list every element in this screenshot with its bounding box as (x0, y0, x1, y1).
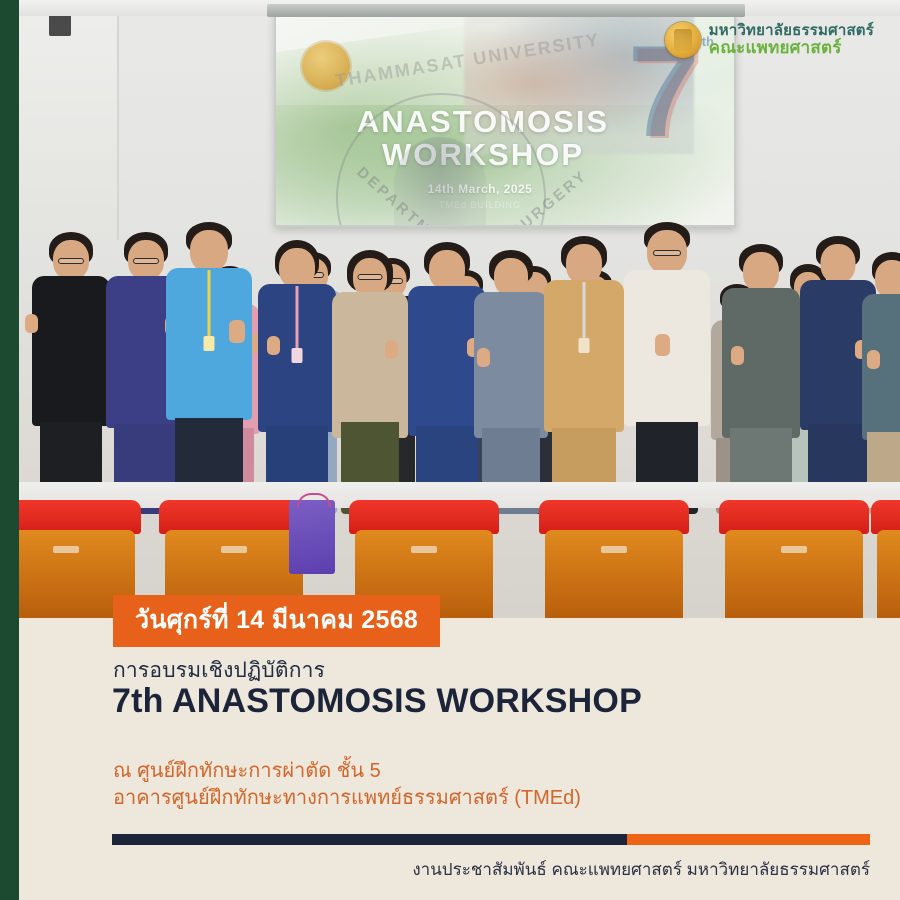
participant (329, 224, 411, 514)
divider-bar (112, 834, 870, 845)
venue-line-2: อาคารศูนย์ฝึกทักษะทางการแพทย์ธรรมศาสตร์ … (113, 785, 581, 812)
seat-back (877, 530, 900, 618)
seat-cushion (539, 500, 689, 534)
lanyard (583, 282, 586, 344)
seat-back (545, 530, 683, 618)
thumbs-up-hand (385, 340, 398, 359)
participant (621, 208, 713, 514)
seat-number-plate (53, 546, 79, 553)
head (743, 252, 779, 292)
thumbs-up-hand (477, 348, 490, 367)
seat-number-plate (781, 546, 807, 553)
participant (719, 222, 803, 514)
event-venue: ณ ศูนย์ฝึกทักษะการผ่าตัด ชั้น 5 อาคารศูน… (113, 758, 581, 812)
seat-number-plate (411, 546, 437, 553)
participant (541, 216, 627, 514)
seat-cushion (349, 500, 499, 534)
participant (29, 218, 113, 514)
glasses-icon (653, 250, 681, 256)
seat-cushion (19, 500, 141, 534)
head (875, 260, 900, 298)
lanyard (208, 270, 211, 342)
lanyard (296, 286, 299, 354)
seat-cushion (871, 500, 900, 534)
thumbs-up-hand (867, 350, 880, 369)
id-badge (579, 338, 590, 353)
wall-panel-left (19, 0, 119, 240)
thumbs-up-hand (229, 320, 245, 343)
info-panel: การอบรมเชิงปฏิบัติการ 7th ANASTOMOSIS WO… (19, 618, 900, 900)
left-green-accent-bar (0, 0, 19, 900)
seat-cushion (719, 500, 869, 534)
head (190, 230, 228, 272)
publisher-credit: งานประชาสัมพันธ์ คณะแพทยศาสตร์ มหาวิทยาล… (412, 856, 870, 883)
head (429, 250, 465, 290)
glasses-icon (133, 258, 159, 264)
participant (861, 230, 900, 514)
head (821, 244, 856, 283)
faculty-brand-lockup: มหาวิทยาลัยธรรมศาสตร์ คณะแพทยศาสตร์ (665, 22, 874, 58)
seat-back (725, 530, 863, 618)
thumbs-up-hand (731, 346, 744, 365)
head (494, 258, 528, 296)
id-badge (204, 336, 215, 351)
brand-text: มหาวิทยาลัยธรรมศาสตร์ คณะแพทยศาสตร์ (709, 23, 874, 57)
seat-number-plate (601, 546, 627, 553)
poster-canvas: THAMMASAT UNIVERSITY 7 th ANASTOMOSIS WO… (0, 0, 900, 900)
brand-university-name: มหาวิทยาลัยธรรมศาสตร์ (709, 23, 874, 39)
participant (163, 208, 255, 514)
id-badge (292, 348, 303, 363)
torso (32, 276, 110, 426)
head (279, 248, 315, 288)
divider-orange-segment (627, 834, 870, 845)
seat-number-plate (221, 546, 247, 553)
participant (471, 226, 551, 514)
venue-line-1: ณ ศูนย์ฝึกทักษะการผ่าตัด ชั้น 5 (113, 758, 581, 785)
divider-navy-segment (112, 834, 627, 845)
torso (332, 292, 408, 438)
thumbs-up-hand (655, 334, 670, 356)
participant (255, 218, 339, 514)
gift-bag (289, 500, 335, 574)
event-date-badge: วันศุกร์ที่ 14 มีนาคม 2568 (113, 595, 440, 647)
glasses-icon (58, 258, 84, 264)
auditorium-seat (719, 500, 869, 618)
projector-screen-housing (267, 4, 745, 17)
thumbs-up-hand (267, 336, 280, 355)
participants-group (19, 214, 900, 514)
glasses-icon (358, 274, 383, 280)
thumbs-up-hand (25, 314, 38, 333)
auditorium-seat (539, 500, 689, 618)
brand-faculty-name: คณะแพทยศาสตร์ (709, 39, 874, 57)
seat-cushion (159, 500, 309, 534)
event-headline: 7th ANASTOMOSIS WORKSHOP (112, 682, 642, 721)
event-group-photo: THAMMASAT UNIVERSITY 7 th ANASTOMOSIS WO… (19, 0, 900, 618)
university-seal-icon (665, 22, 701, 58)
head (566, 244, 602, 284)
auditorium-seat (871, 500, 900, 618)
